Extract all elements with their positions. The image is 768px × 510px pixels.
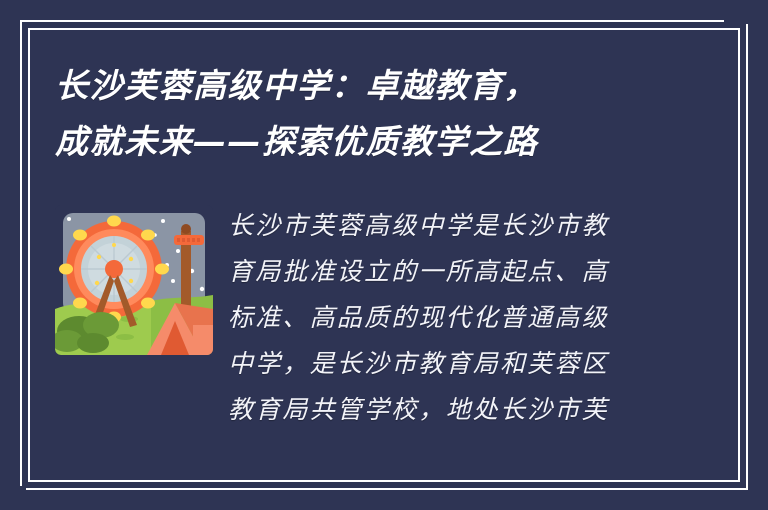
article-body: 长沙市芙蓉高级中学是长沙市教 育局批准设立的一所高起点、高 标准、高品质的现代化…	[228, 203, 683, 461]
page-title: 长沙芙蓉高级中学：卓越教育， 成就未来——探索优质教学之路	[55, 58, 715, 170]
article-card: 长沙芙蓉高级中学：卓越教育， 成就未来——探索优质教学之路	[0, 0, 768, 510]
title-line-1: 长沙芙蓉高级中学：卓越教育，	[55, 58, 715, 114]
body-line-3: 标准、高品质的现代化普通高级	[228, 295, 683, 341]
article-thumbnail	[55, 205, 213, 355]
frame-mask-bottom	[0, 486, 26, 510]
body-line-5: 教育局共管学校，地处长沙市芙	[228, 387, 683, 433]
frame-mask-right	[724, 0, 768, 24]
title-line-2: 成就未来——探索优质教学之路	[55, 114, 715, 170]
body-line-4: 中学，是长沙市教育局和芙蓉区	[228, 341, 683, 387]
ferris-wheel-illustration	[55, 205, 213, 355]
body-line-2: 育局批准设立的一所高起点、高	[228, 249, 683, 295]
body-line-1: 长沙市芙蓉高级中学是长沙市教	[228, 203, 683, 249]
